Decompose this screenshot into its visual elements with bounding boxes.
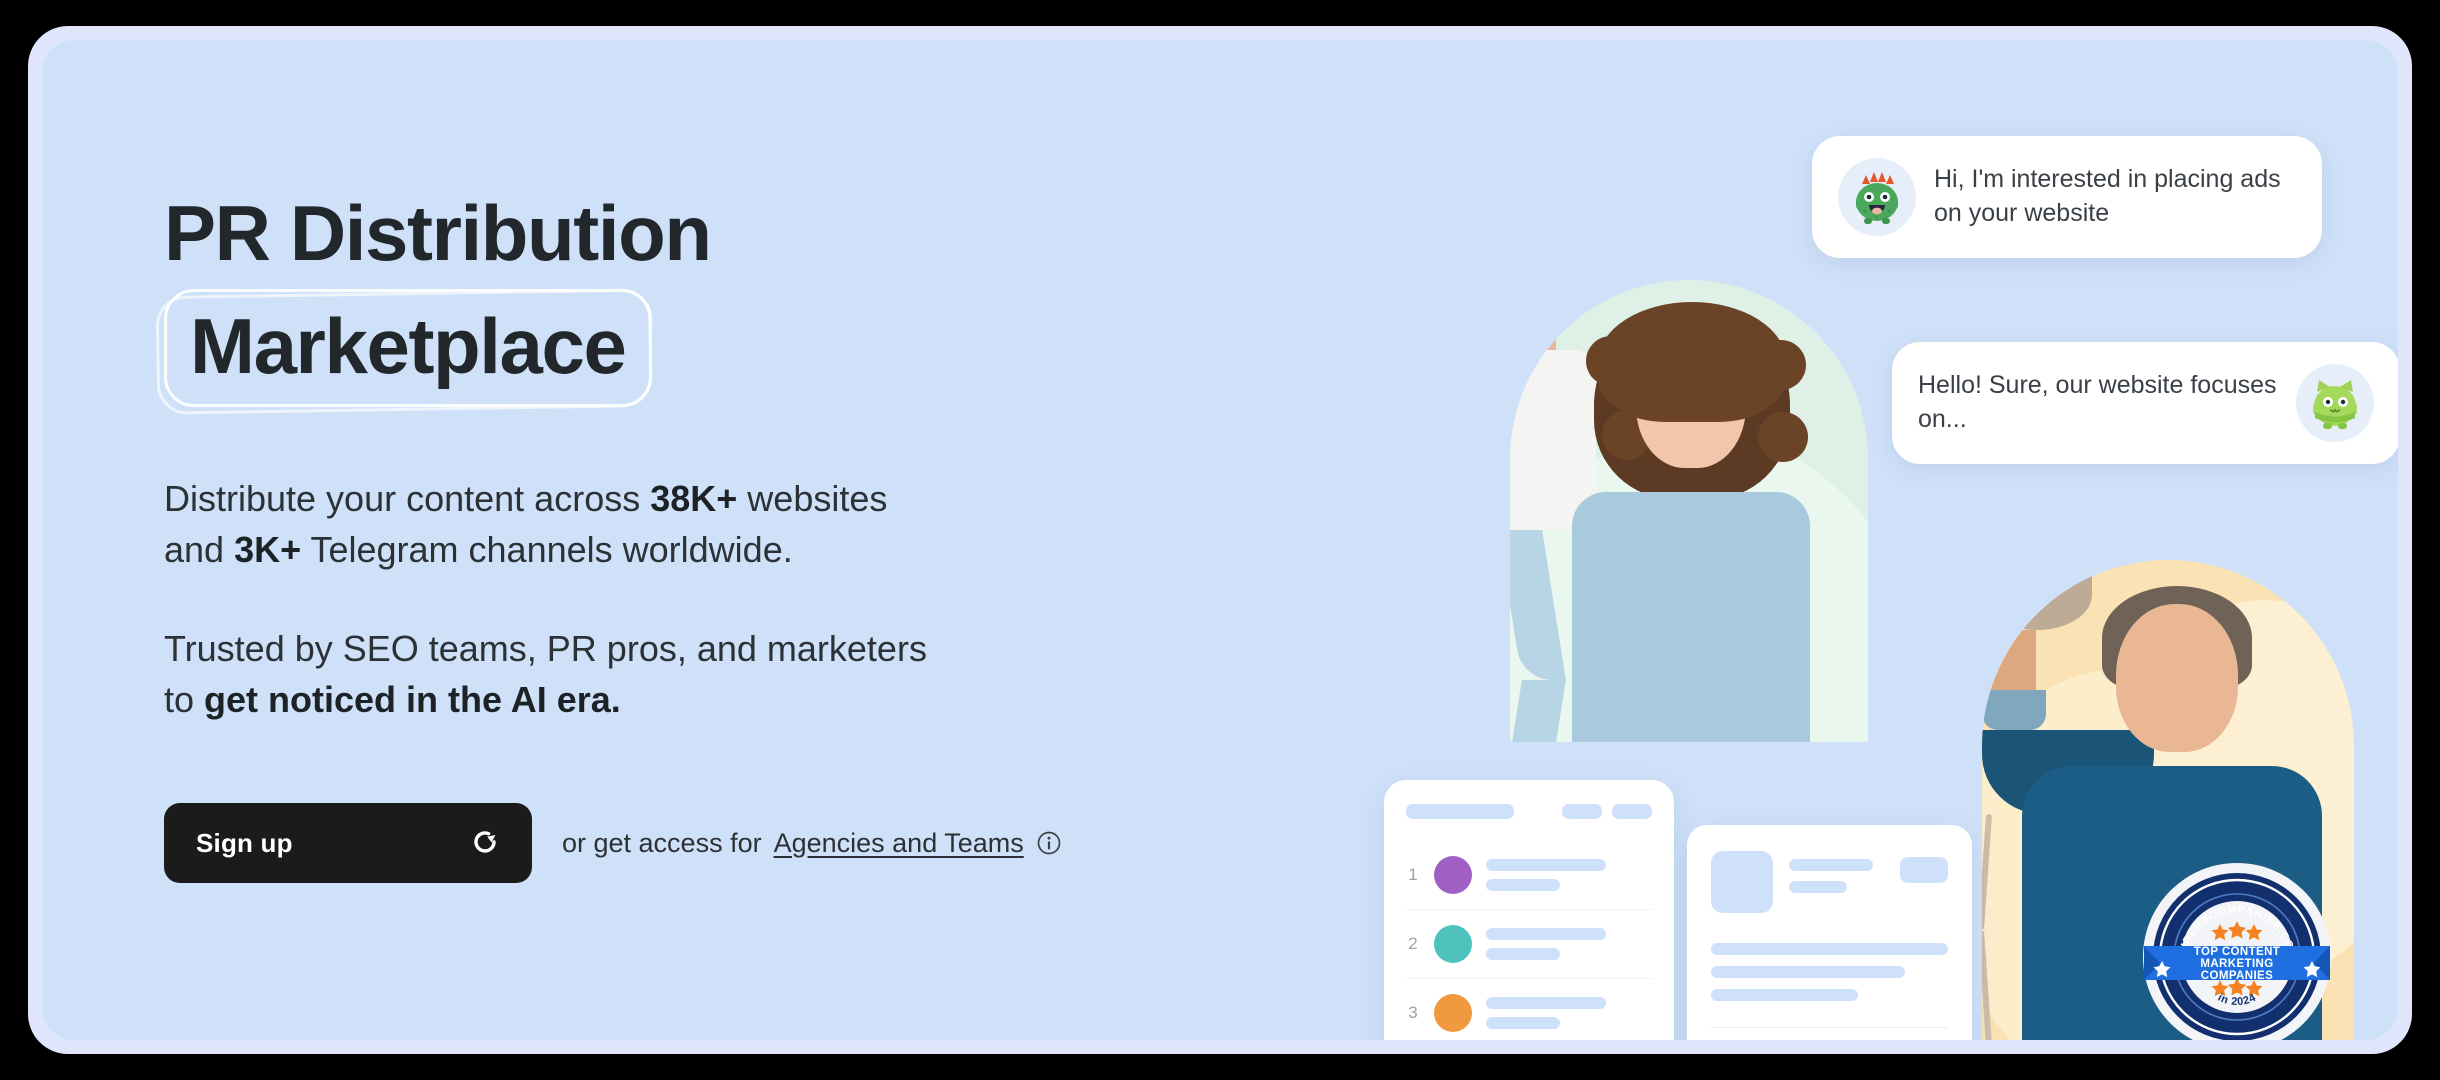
stat-websites: 38K+: [650, 478, 737, 519]
woman-hair-front: [1598, 302, 1786, 422]
woman-figure: [1510, 280, 1868, 742]
woman-neck: [1510, 280, 1556, 350]
badge-ribbon-line-1: TOP CONTENT: [2194, 946, 2280, 958]
rank-number: 3: [1406, 1003, 1420, 1023]
chat-bubble-incoming: Hi, I'm interested in placing ads on you…: [1812, 136, 2322, 258]
stat-telegram: 3K+: [234, 529, 301, 570]
rank-number: 1: [1406, 865, 1420, 885]
woman-blazer: [1572, 492, 1810, 742]
woman-lapel-right: [1510, 680, 1566, 742]
man-face: [2116, 604, 2238, 752]
hero-illustration: Hi, I'm interested in placing ads on you…: [1342, 80, 2398, 1040]
page-title-line-2: Marketplace: [190, 302, 626, 390]
info-icon[interactable]: [1036, 830, 1062, 856]
hoodie-string-left: [1982, 814, 1992, 930]
doc-card-header: [1711, 851, 1948, 913]
skeleton-lines: [1486, 859, 1606, 891]
rank-number: 2: [1406, 934, 1420, 954]
page-title-highlight: Marketplace: [164, 289, 652, 406]
man-neck: [1982, 630, 2036, 690]
badge-ribbon-line-2: MARKETING: [2200, 958, 2273, 970]
arrow-circle-icon: [470, 827, 500, 860]
color-dot: [1434, 994, 1472, 1032]
award-badge: SUPERBCOMPANIES.COM: [2142, 862, 2332, 1040]
color-dot: [1434, 856, 1472, 894]
skeleton-lines: [1789, 851, 1884, 893]
woman-lapel-left: [1510, 530, 1566, 680]
page-title-line-1: PR Distribution: [164, 190, 1104, 277]
list-item[interactable]: 1: [1406, 841, 1652, 910]
skeleton-pill: [1562, 804, 1602, 819]
chat-bubble-text: Hi, I'm interested in placing ads on you…: [1934, 163, 2296, 231]
lede1-pre: Distribute your content across: [164, 478, 650, 519]
woman-hair-curl: [1758, 412, 1808, 462]
light-green-monster-avatar: [2296, 364, 2374, 442]
chat-bubble-reply: Hello! Sure, our website focuses on...: [1892, 342, 2398, 464]
sign-up-button[interactable]: Sign up: [164, 803, 532, 883]
divider: [1711, 1027, 1948, 1028]
badge-ribbon: TOP CONTENT MARKETING COMPANIES: [2144, 946, 2330, 982]
hero-subtitle-1: Distribute your content across 38K+ webs…: [164, 473, 924, 575]
hero-subtitle-2: Trusted by SEO teams, PR pros, and marke…: [164, 623, 954, 725]
man-beard: [1982, 560, 2092, 630]
hero-panel: PR Distribution Marketplace Distribute y…: [42, 40, 2398, 1040]
cta-row: Sign up or get access for Agencies and T…: [164, 803, 1104, 883]
badge-ribbon-line-3: COMPANIES: [2201, 970, 2273, 982]
hoodie-string-right: [1982, 930, 1992, 1040]
skeleton-document-card: [1687, 825, 1972, 1040]
skeleton-pill: [1612, 804, 1652, 819]
cta-note-text: or get access for: [562, 828, 762, 859]
page-title: PR Distribution Marketplace: [164, 190, 1104, 407]
list-item[interactable]: 3: [1406, 979, 1652, 1040]
lede2-bold: get noticed in the AI era.: [204, 679, 621, 720]
list-item[interactable]: 2: [1406, 910, 1652, 979]
device-frame: PR Distribution Marketplace Distribute y…: [0, 0, 2440, 1080]
cta-note: or get access for Agencies and Teams: [562, 828, 1062, 859]
woman-with-phone-photo: [1510, 280, 1868, 742]
skeleton-pills: [1562, 804, 1652, 819]
sign-up-label: Sign up: [196, 828, 293, 859]
list-card-header: [1406, 804, 1652, 819]
skeleton-lines: [1486, 997, 1606, 1029]
skeleton-lines: [1486, 928, 1606, 960]
ranked-list-card: 1 2: [1384, 780, 1674, 1040]
agencies-and-teams-link[interactable]: Agencies and Teams: [774, 828, 1024, 859]
skeleton-title: [1406, 804, 1514, 819]
hero-panel-outer: PR Distribution Marketplace Distribute y…: [28, 26, 2412, 1054]
skeleton-avatar: [1711, 851, 1773, 913]
man-tshirt: [1982, 690, 2046, 730]
doc-card-body: [1711, 943, 1948, 1001]
hero-content: PR Distribution Marketplace Distribute y…: [164, 190, 1104, 883]
skeleton-button: [1900, 857, 1948, 883]
chat-bubble-text: Hello! Sure, our website focuses on...: [1918, 369, 2278, 437]
lede1-post: Telegram channels worldwide.: [301, 529, 793, 570]
color-dot: [1434, 925, 1472, 963]
green-monster-avatar: [1838, 158, 1916, 236]
